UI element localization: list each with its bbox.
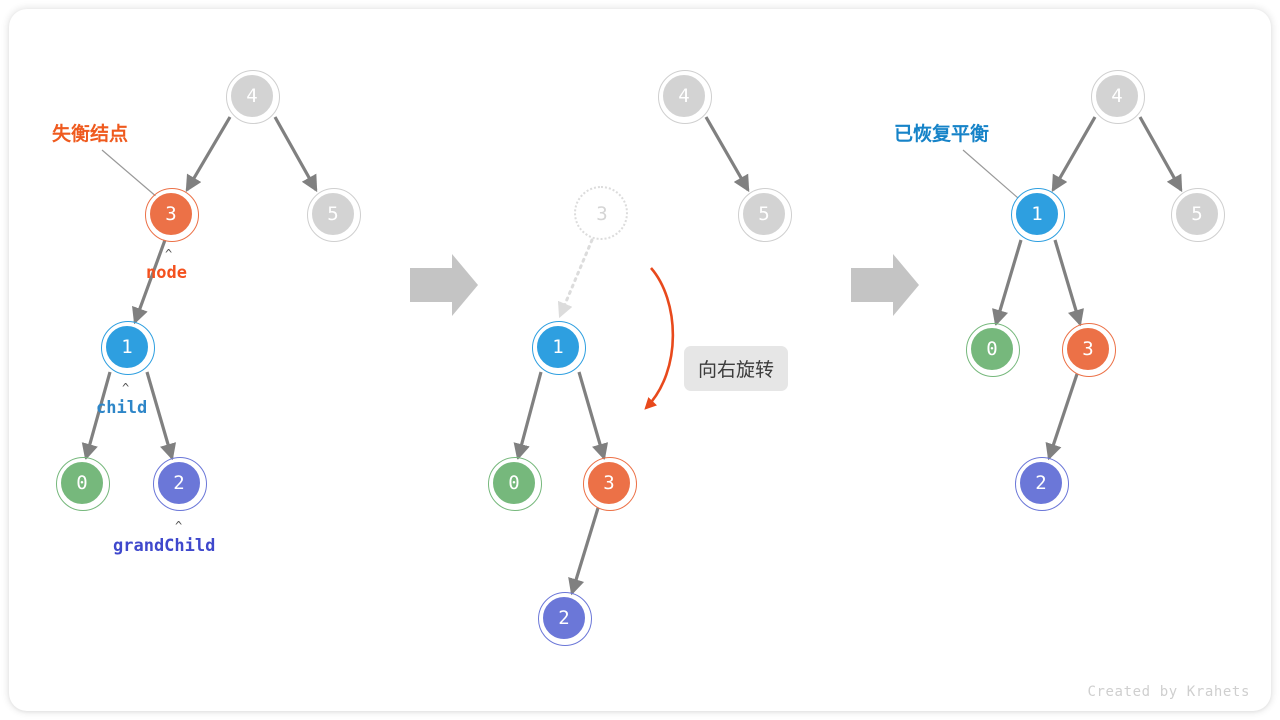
node-value: 5 [1191,205,1202,224]
caret-child: ^ [122,381,129,395]
node-value: 4 [246,87,257,106]
left-node-4[interactable]: 4 [228,72,276,120]
node-value: 0 [508,474,519,493]
rotate-right-badge: 向右旋转 [684,346,788,391]
callout-balanced: 已恢复平衡 [894,119,989,146]
marker-node-label: node [146,263,187,283]
left-node-3[interactable]: 3 [147,190,195,238]
right-node-4[interactable]: 4 [1093,72,1141,120]
right-node-2[interactable]: 2 [1017,459,1065,507]
step-arrow-1 [410,254,478,316]
middle-node-5[interactable]: 5 [740,190,788,238]
node-value: 5 [327,205,338,224]
middle-node-2[interactable]: 2 [540,594,588,642]
left-callout-leader [102,150,158,198]
node-value: 5 [758,205,769,224]
node-value: 0 [986,340,997,359]
node-value: 3 [596,205,607,224]
step-arrow-2 [851,254,919,316]
right-node-1[interactable]: 1 [1013,190,1061,238]
left-node-1[interactable]: 1 [103,323,151,371]
node-value: 3 [165,205,176,224]
node-value: 1 [1031,205,1042,224]
left-node-0[interactable]: 0 [58,459,106,507]
middle-node-4[interactable]: 4 [660,72,708,120]
right-node-5[interactable]: 5 [1173,190,1221,238]
node-value: 1 [121,338,132,357]
middle-node-3[interactable]: 3 [585,459,633,507]
node-value: 2 [558,609,569,628]
node-value: 2 [173,474,184,493]
caret-node: ^ [165,247,172,261]
left-node-5[interactable]: 5 [309,190,357,238]
middle-node-0[interactable]: 0 [490,459,538,507]
marker-child-label: child [96,398,147,418]
callout-unbalanced-node: 失衡结点 [52,119,128,146]
right-callout-leader [963,150,1018,198]
marker-grandchild-label: grandChild [113,536,215,556]
ghost-edge [560,240,592,316]
node-value: 4 [678,87,689,106]
watermark-credit: Created by Krahets [1087,684,1250,700]
middle-node-1[interactable]: 1 [534,323,582,371]
node-value: 0 [76,474,87,493]
left-node-2[interactable]: 2 [155,459,203,507]
caret-grandchild: ^ [175,519,182,533]
node-value: 3 [603,474,614,493]
node-value: 3 [1082,340,1093,359]
node-value: 1 [552,338,563,357]
rotate-arc [646,268,673,408]
right-node-0[interactable]: 0 [968,325,1016,373]
diagram-canvas: 失衡结点 4 3 5 1 0 2 ^ node ^ child ^ grandC… [0,0,1280,720]
node-value: 2 [1035,474,1046,493]
right-node-3[interactable]: 3 [1064,325,1112,373]
node-value: 4 [1111,87,1122,106]
right-tree-edges [996,117,1181,458]
middle-ghost-node-3: 3 [578,190,626,238]
